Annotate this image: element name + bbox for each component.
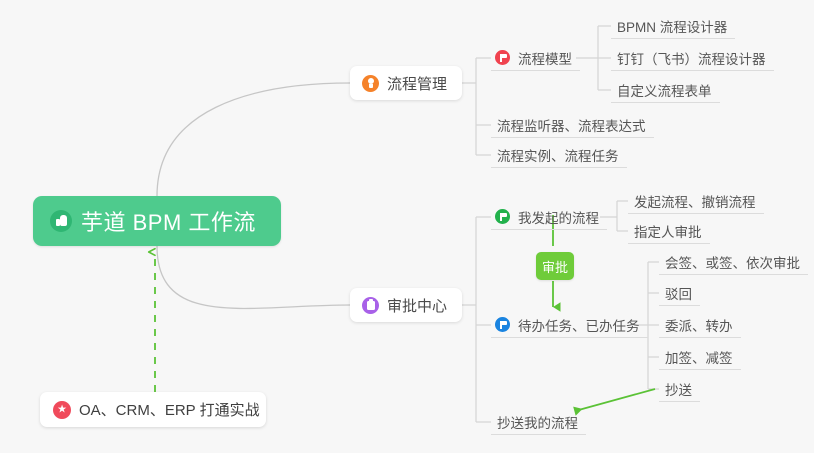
node-dingtalk-designer-label: 钉钉（飞书）流程设计器 (617, 48, 766, 68)
node-reject-label: 驳回 (665, 283, 692, 303)
flag-icon (495, 209, 510, 224)
mindmap-canvas: 芋道 BPM 工作流 OA、CRM、ERP 打通实战 流程管理 流程模型 BPM… (0, 0, 814, 453)
node-process-model-label: 流程模型 (518, 48, 572, 68)
clipboard-icon (362, 297, 379, 314)
node-custom-form-label: 自定义流程表单 (617, 80, 712, 100)
node-start-cancel-process-label: 发起流程、撤销流程 (634, 191, 756, 211)
node-cc-label: 抄送 (665, 379, 692, 399)
node-todo-done-tasks-label: 待办任务、已办任务 (518, 315, 640, 335)
node-cc-to-me[interactable]: 抄送我的流程 (491, 409, 586, 435)
node-process-listener[interactable]: 流程监听器、流程表达式 (491, 112, 654, 138)
node-cc[interactable]: 抄送 (659, 376, 700, 402)
thumbs-up-icon (50, 210, 72, 232)
node-countersign-label: 会签、或签、依次审批 (665, 252, 800, 272)
node-dingtalk-designer[interactable]: 钉钉（飞书）流程设计器 (611, 45, 774, 71)
root-node-label: 芋道 BPM 工作流 (81, 205, 256, 237)
star-icon (53, 401, 71, 419)
branch-process-management-label: 流程管理 (387, 73, 447, 94)
node-custom-form[interactable]: 自定义流程表单 (611, 77, 720, 103)
node-add-remove-sign-label: 加签、减签 (665, 347, 733, 367)
process-model-connectors (576, 26, 611, 90)
integration-card-label: OA、CRM、ERP 打通实战 (79, 399, 260, 420)
branch-approval-center[interactable]: 审批中心 (350, 288, 462, 322)
node-delegate-transfer[interactable]: 委派、转办 (659, 312, 741, 338)
node-delegate-transfer-label: 委派、转办 (665, 315, 733, 335)
node-process-instance-label: 流程实例、流程任务 (497, 145, 619, 165)
node-process-listener-label: 流程监听器、流程表达式 (497, 115, 646, 135)
node-countersign[interactable]: 会签、或签、依次审批 (659, 249, 808, 275)
node-my-initiated-label: 我发起的流程 (518, 207, 599, 227)
node-reject[interactable]: 驳回 (659, 280, 700, 306)
branch-process-management[interactable]: 流程管理 (350, 66, 462, 100)
integration-card[interactable]: OA、CRM、ERP 打通实战 (40, 392, 266, 427)
node-process-instance[interactable]: 流程实例、流程任务 (491, 142, 627, 168)
node-my-initiated[interactable]: 我发起的流程 (491, 204, 607, 230)
approve-tag[interactable]: 审批 (536, 252, 574, 280)
lightbulb-icon (362, 75, 379, 92)
node-bpmn-designer[interactable]: BPMN 流程设计器 (611, 13, 735, 39)
node-start-cancel-process[interactable]: 发起流程、撤销流程 (628, 188, 764, 214)
node-todo-done-tasks[interactable]: 待办任务、已办任务 (491, 312, 648, 338)
node-bpmn-designer-label: BPMN 流程设计器 (617, 16, 727, 36)
flag-icon (495, 50, 510, 65)
node-cc-to-me-label: 抄送我的流程 (497, 412, 578, 432)
root-node[interactable]: 芋道 BPM 工作流 (33, 196, 281, 246)
node-assignee-approval[interactable]: 指定人审批 (628, 218, 710, 244)
node-assignee-approval-label: 指定人审批 (634, 221, 702, 241)
node-process-model[interactable]: 流程模型 (491, 45, 580, 71)
approve-tag-label: 审批 (542, 257, 568, 276)
node-add-remove-sign[interactable]: 加签、减签 (659, 344, 741, 370)
branch-approval-center-label: 审批中心 (387, 295, 447, 316)
flag-icon (495, 317, 510, 332)
cc-link-arrow (575, 389, 655, 411)
